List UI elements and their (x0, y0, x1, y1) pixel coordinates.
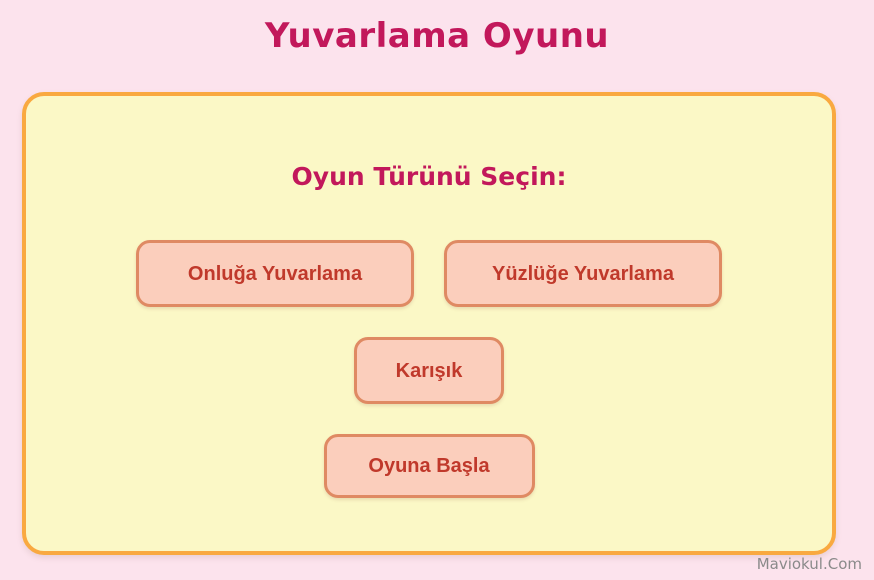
page-title: Yuvarlama Oyunu (0, 16, 874, 56)
start-row: Oyuna Başla (26, 434, 832, 498)
game-mode-row-mid: Karışık (26, 337, 832, 404)
mode-button-onluga-yuvarlama[interactable]: Onluğa Yuvarlama (136, 240, 414, 307)
game-panel: Oyun Türünü Seçin: Onluğa Yuvarlama Yüzl… (22, 92, 836, 555)
game-mode-heading: Oyun Türünü Seçin: (26, 162, 832, 191)
site-watermark: Maviokul.Com (757, 555, 862, 573)
mode-button-yuzluge-yuvarlama[interactable]: Yüzlüğe Yuvarlama (444, 240, 722, 307)
game-mode-row-top: Onluğa Yuvarlama Yüzlüğe Yuvarlama (26, 240, 832, 307)
start-game-button[interactable]: Oyuna Başla (324, 434, 535, 498)
mode-button-karisik[interactable]: Karışık (354, 337, 504, 404)
